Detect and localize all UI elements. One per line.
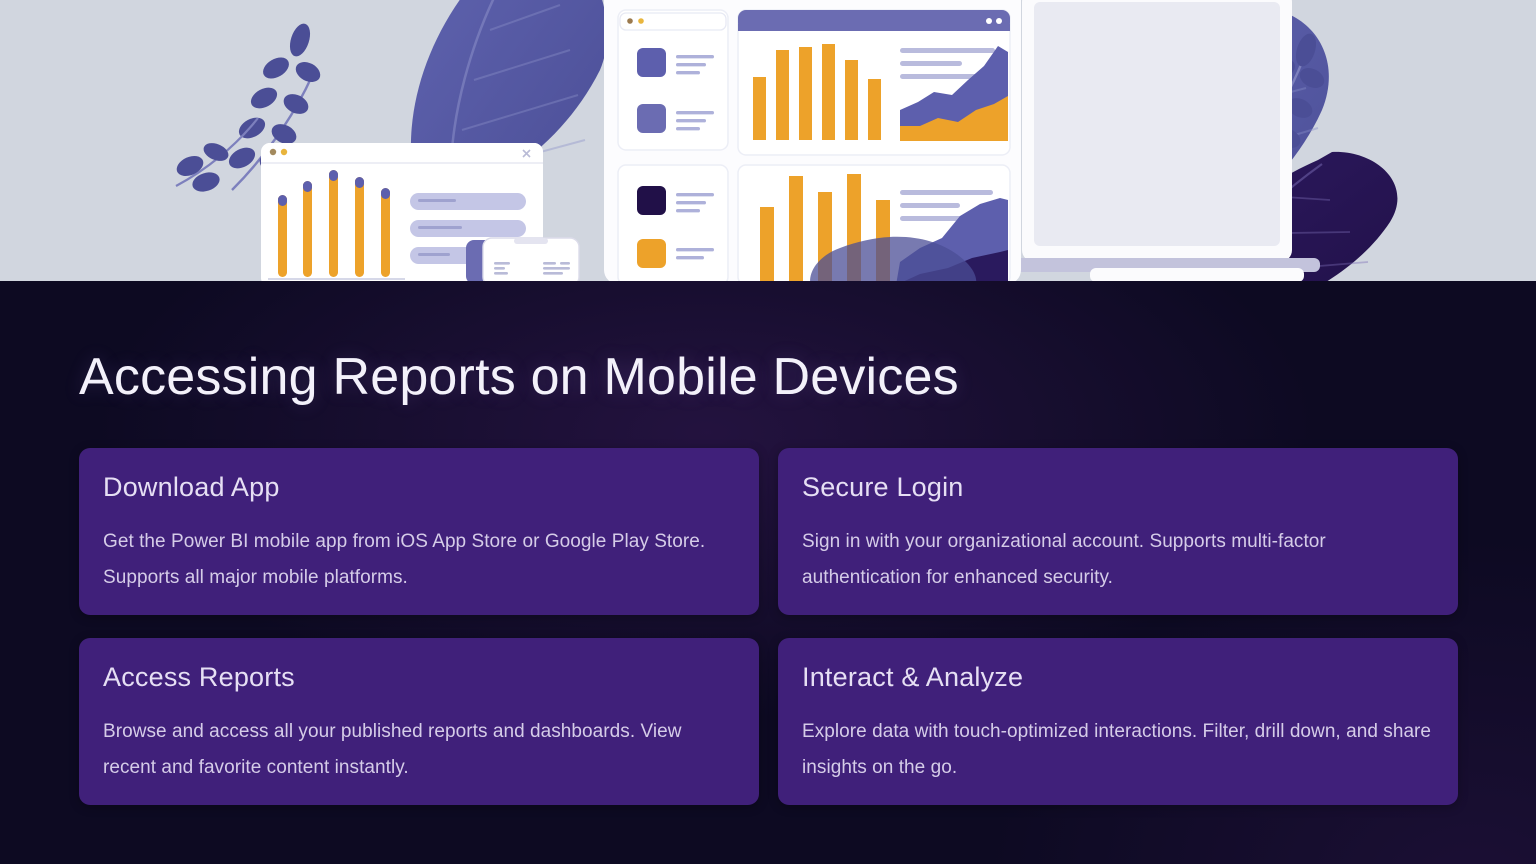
- dashboard-window-list-top: [618, 10, 728, 150]
- card-title: Interact & Analyze: [802, 664, 1434, 691]
- card-description: Explore data with touch-optimized intera…: [802, 714, 1434, 787]
- feature-card-download-app[interactable]: Download App Get the Power BI mobile app…: [79, 448, 759, 615]
- laptop-base: [1090, 268, 1304, 281]
- laptop-device: [1000, 0, 1320, 272]
- card-description: Sign in with your organizational account…: [802, 524, 1434, 597]
- card-title: Download App: [103, 474, 735, 501]
- card-title: Access Reports: [103, 664, 735, 691]
- card-description: Get the Power BI mobile app from iOS App…: [103, 524, 735, 597]
- card-title: Secure Login: [802, 474, 1434, 501]
- hero-illustration: [0, 0, 1536, 281]
- feature-card-access-reports[interactable]: Access Reports Browse and access all you…: [79, 638, 759, 805]
- slide: Accessing Reports on Mobile Devices Down…: [0, 0, 1536, 864]
- feature-card-interact-analyze[interactable]: Interact & Analyze Explore data with tou…: [778, 638, 1458, 805]
- dashboard-window-list-bottom: [618, 165, 728, 281]
- card-description: Browse and access all your published rep…: [103, 714, 735, 787]
- smartphone-device: [466, 238, 579, 281]
- feature-card-secure-login[interactable]: Secure Login Sign in with your organizat…: [778, 448, 1458, 615]
- feature-card-grid: Download App Get the Power BI mobile app…: [79, 448, 1458, 805]
- hero-illustration-svg: [0, 0, 1536, 281]
- page-title: Accessing Reports on Mobile Devices: [79, 347, 959, 407]
- content-section: Accessing Reports on Mobile Devices Down…: [0, 281, 1536, 864]
- dashboard-window-bar-chart: [738, 10, 1010, 155]
